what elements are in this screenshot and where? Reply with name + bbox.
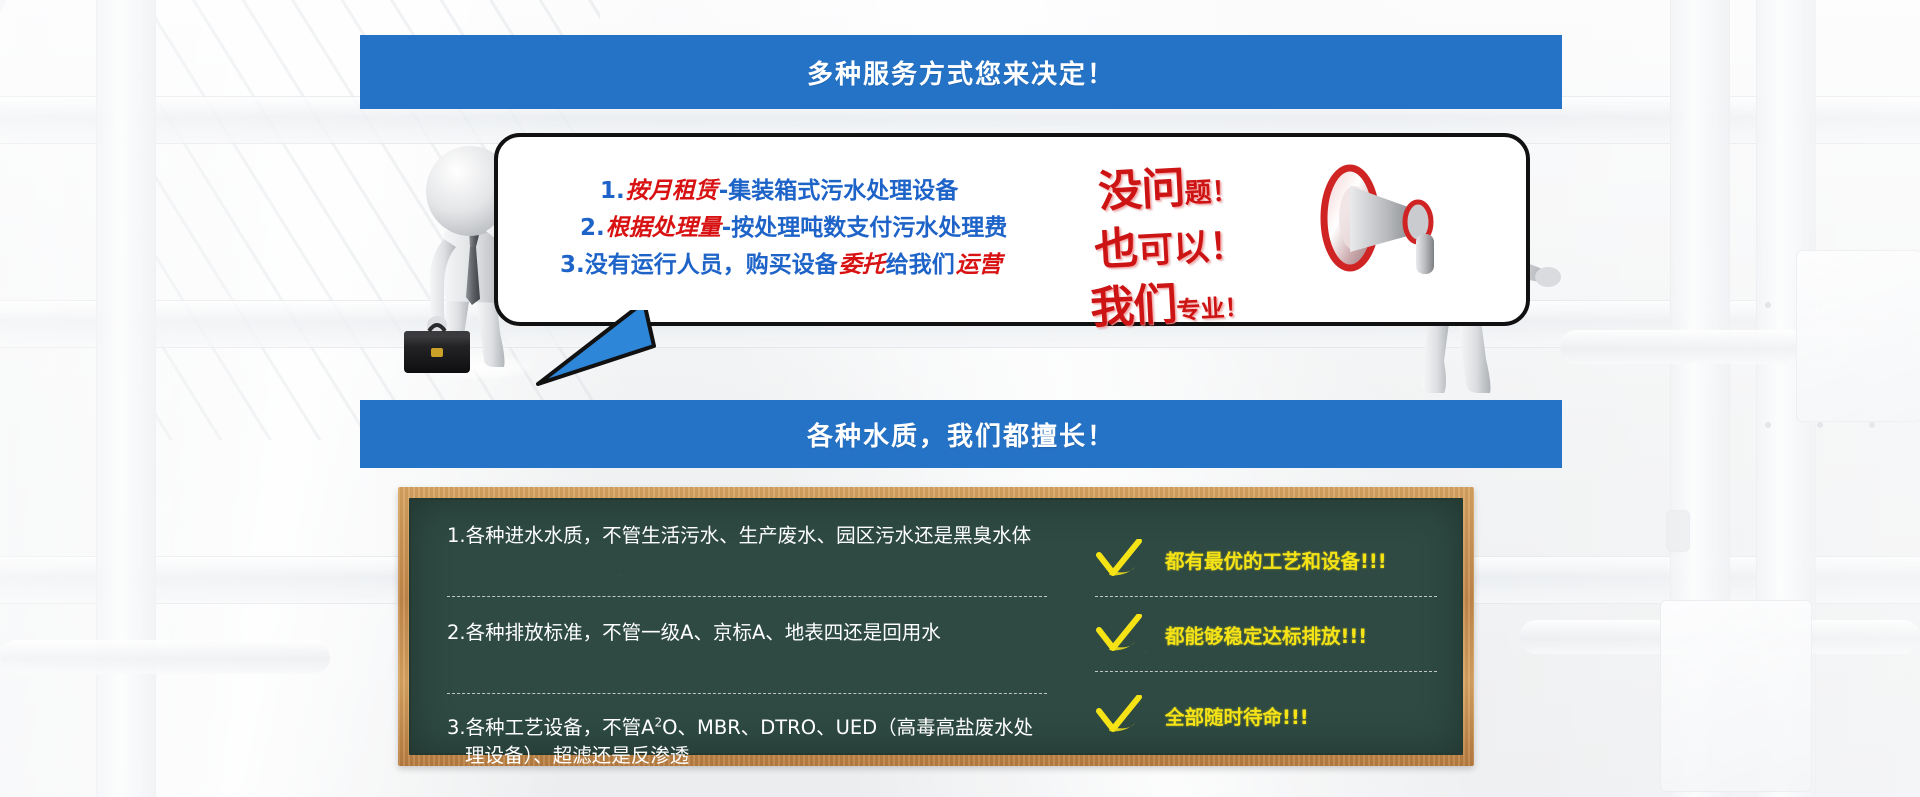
banner-middle-text: 各种水质，我们都擅长！ — [807, 416, 1115, 453]
board-check-row-3: 全部随时待命!!! — [1095, 672, 1461, 758]
chalkboard-surface: 1.各种进水水质，不管生活污水、生产废水、园区污水还是黑臭水体 2.各种排放标准… — [409, 498, 1463, 755]
board-check-text-3: 全部随时待命!!! — [1165, 701, 1309, 730]
board-check-row-2: 都能够稳定达标排放!!! — [1095, 597, 1461, 671]
board-item-3: 3.各种工艺设备，不管A2O、MBR、DTRO、UED（高毒高盐废水处 理设备）… — [447, 694, 1061, 797]
chalkboard-left-column: 1.各种进水水质，不管生活污水、生产废水、园区污水还是黑臭水体 2.各种排放标准… — [411, 500, 1061, 753]
board-item-2: 2.各种排放标准，不管一级A、京标A、地表四还是回用水 — [447, 597, 1061, 693]
check-mark-icon — [1095, 539, 1143, 579]
banner-top: 多种服务方式您来决定！ — [360, 35, 1562, 109]
slogan-line-3: 我们 专业！ — [1088, 260, 1329, 336]
banner-middle: 各种水质，我们都擅长！ — [360, 400, 1562, 468]
chalkboard-right-column: 都有最优的工艺和设备!!! 都能够稳定达标排放!!! 全部随 — [1061, 500, 1461, 753]
board-check-row-1: 都有最优的工艺和设备!!! — [1095, 522, 1461, 596]
board-check-text-1: 都有最优的工艺和设备!!! — [1165, 545, 1387, 574]
red-slogan-block: 没问 题！ 也 可以！ 我们 专业！ — [1098, 150, 1328, 305]
board-check-text-2: 都能够稳定达标排放!!! — [1165, 620, 1367, 649]
check-mark-icon — [1095, 614, 1143, 654]
check-mark-icon — [1095, 695, 1143, 735]
chalkboard: 1.各种进水水质，不管生活污水、生产废水、园区污水还是黑臭水体 2.各种排放标准… — [398, 487, 1474, 766]
board-item-1: 1.各种进水水质，不管生活污水、生产废水、园区污水还是黑臭水体 — [447, 522, 1061, 596]
megaphone-icon — [1318, 160, 1458, 290]
banner-top-text: 多种服务方式您来决定！ — [807, 54, 1115, 91]
speech-bubble-tail — [536, 300, 656, 386]
promo-banner-stage: 多种服务方式您来决定！ — [0, 0, 1920, 797]
